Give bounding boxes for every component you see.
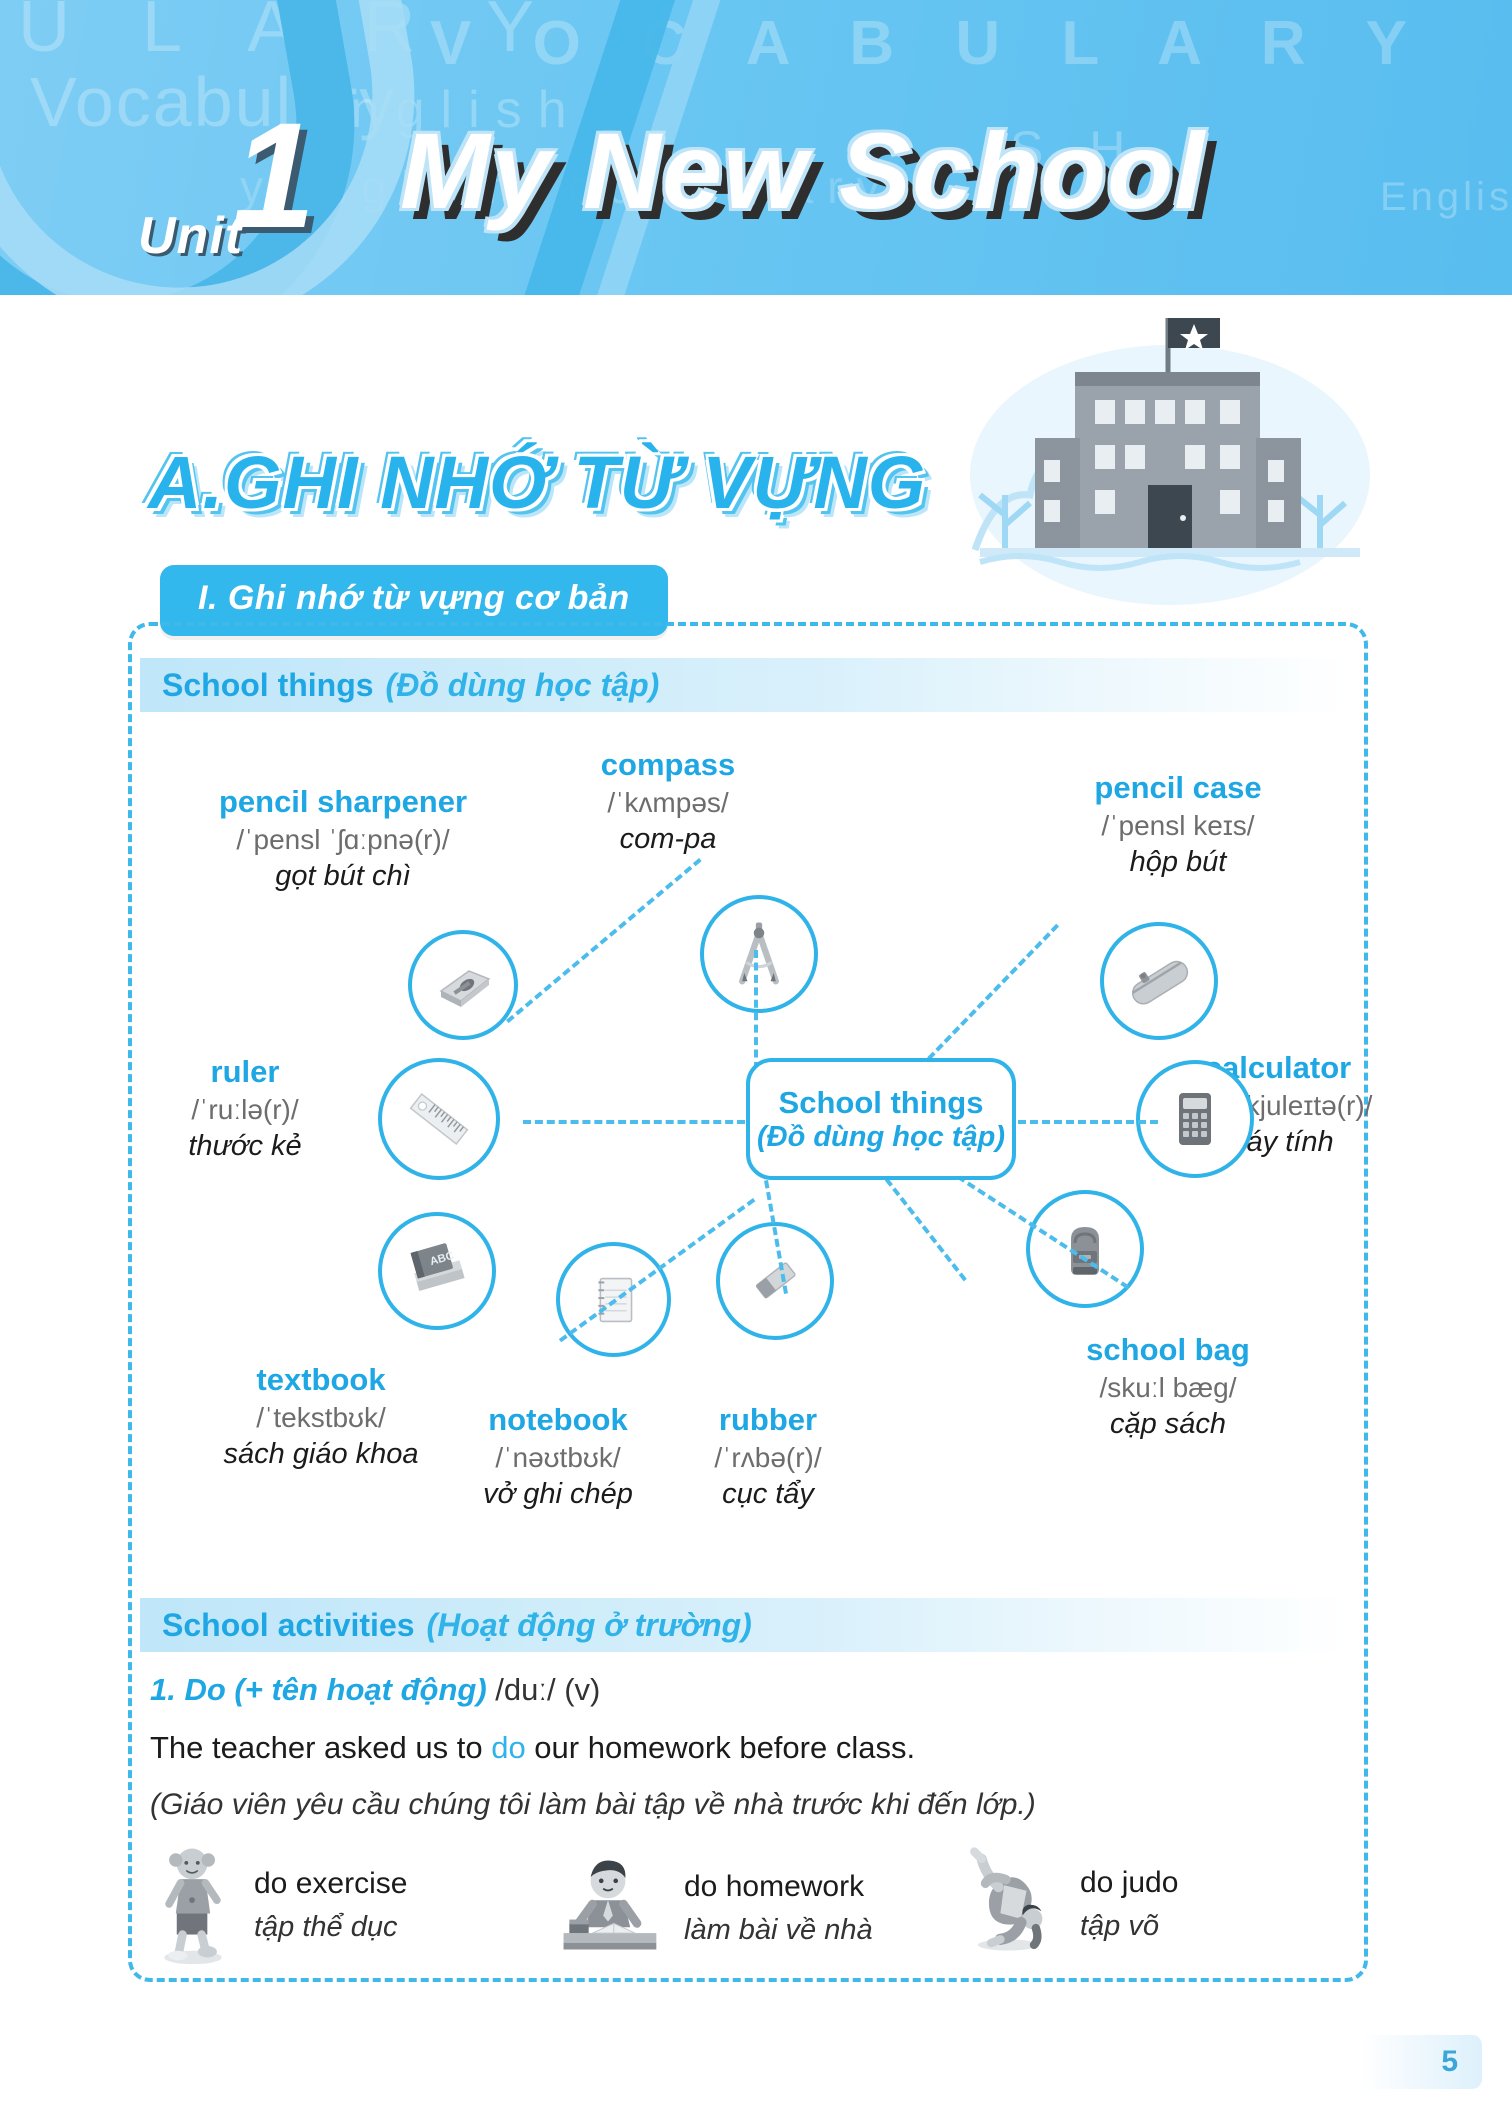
vocab-ipa: /ˈrʌbə(r)/ xyxy=(628,1440,908,1476)
connector-compass xyxy=(754,950,758,1070)
homework-boy-icon xyxy=(550,1848,666,1969)
vocab-ruler: ruler /ˈruːlə(r)/ thước kẻ xyxy=(120,1052,370,1165)
vocab-word: textbook xyxy=(156,1360,486,1400)
activity-vi: làm bài về nhà xyxy=(684,1909,873,1953)
activity-entry-heading: 1. Do (+ tên hoạt động) /duː/ (v) xyxy=(150,1672,600,1708)
bg-word-1: U L A R Y xyxy=(18,0,560,68)
vocab-pencil-case: pencil case /ˈpensl keɪs/ hộp bút xyxy=(1018,768,1338,881)
ruler-icon xyxy=(378,1058,500,1180)
example-before: The teacher asked us to xyxy=(150,1730,491,1765)
section-a-text: GHI NHỚ TỪ VỰNG xyxy=(224,441,926,524)
activity-entry-number: 1. Do (+ tên hoạt động) xyxy=(150,1672,487,1707)
center-node-en: School things xyxy=(779,1085,984,1121)
section-a-prefix: A. xyxy=(148,441,224,524)
vocab-word: ruler xyxy=(120,1052,370,1092)
unit-label: Unit xyxy=(138,206,243,266)
school-bag-icon xyxy=(1026,1190,1144,1308)
vocab-word: pencil sharpener xyxy=(178,782,508,822)
vocab-vi: cặp sách xyxy=(1008,1406,1328,1443)
exercise-girl-icon xyxy=(150,1840,236,1971)
activity-item-exercise: do exercise tập thể dục xyxy=(150,1840,407,1971)
page-number: 5 xyxy=(1360,2035,1482,2089)
activity-label-homework: do homework làm bài về nhà xyxy=(684,1864,873,1953)
band-school-activities: School activities (Hoạt động ở trường) xyxy=(140,1598,1350,1652)
band-school-activities-en: School activities xyxy=(162,1607,415,1644)
activity-example-translation: (Giáo viên yêu cầu chúng tôi làm bài tập… xyxy=(150,1788,1036,1822)
band-school-activities-vi: (Hoạt động ở trường) xyxy=(427,1607,752,1644)
section-a-title: A.GHI NHỚ TỪ VỰNG xyxy=(148,440,926,525)
band-school-things-en: School things xyxy=(162,667,374,704)
bg-word-2: V O C A B U L A R Y xyxy=(430,8,1429,79)
activity-en: do homework xyxy=(684,1864,873,1909)
header-banner: U L A R Y V O C A B U L A R Y Vocabulary… xyxy=(0,0,1512,295)
connector-calculator xyxy=(1018,1120,1158,1124)
compass-icon xyxy=(700,895,818,1013)
vocab-ipa: /skuːl bæg/ xyxy=(1008,1370,1328,1406)
mindmap: School things (Đồ dùng học tập) pencil s… xyxy=(128,700,1368,1580)
activity-label-judo: do judo tập võ xyxy=(1080,1860,1178,1949)
vocab-word: school bag xyxy=(1008,1330,1328,1370)
page-title: My New School xyxy=(400,108,1205,233)
unit-number: 1 xyxy=(232,100,315,250)
connector-ruler xyxy=(523,1120,745,1124)
band-school-things-vi: (Đồ dùng học tập) xyxy=(386,667,660,704)
center-node-vi: (Đồ dùng học tập) xyxy=(757,1121,1005,1154)
vocab-ipa: /ˈkʌmpəs/ xyxy=(518,785,818,821)
activity-en: do exercise xyxy=(254,1861,407,1906)
vocab-ipa: /ˈruːlə(r)/ xyxy=(120,1092,370,1128)
activity-vi: tập thể dục xyxy=(254,1906,407,1950)
pencil-case-icon xyxy=(1100,922,1218,1040)
vocab-vi: com-pa xyxy=(518,821,818,858)
vocab-word: compass xyxy=(518,745,818,785)
vocab-word: rubber xyxy=(628,1400,908,1440)
activity-en: do judo xyxy=(1080,1860,1178,1905)
vocab-ipa: /ˈpensl ˈʃɑːpnə(r)/ xyxy=(178,822,508,858)
mindmap-center-node: School things (Đồ dùng học tập) xyxy=(746,1058,1016,1180)
example-after: our homework before class. xyxy=(526,1730,915,1765)
bg-word-7: English xyxy=(1380,175,1512,220)
vocab-vi: thước kẻ xyxy=(120,1128,370,1165)
vocab-vi: gọt bút chì xyxy=(178,858,508,895)
vocab-ipa: /ˈpensl keɪs/ xyxy=(1018,808,1338,844)
worksheet-page: U L A R Y V O C A B U L A R Y Vocabulary… xyxy=(0,0,1512,2119)
activity-vi: tập võ xyxy=(1080,1905,1178,1949)
school-building-illustration xyxy=(920,300,1390,630)
activity-item-homework: do homework làm bài về nhà xyxy=(550,1848,873,1969)
activity-items-row: do exercise tập thể dục xyxy=(150,1840,1330,1970)
vocab-pencil-sharpener: pencil sharpener /ˈpensl ˈʃɑːpnə(r)/ gọt… xyxy=(178,782,508,895)
activity-example-sentence: The teacher asked us to do our homework … xyxy=(150,1730,915,1766)
vocab-vi: hộp bút xyxy=(1018,844,1338,881)
bg-word-3: Vocabulary xyxy=(30,62,396,142)
example-highlight: do xyxy=(491,1730,525,1765)
pencil-sharpener-icon xyxy=(408,930,518,1040)
vocab-word: pencil case xyxy=(1018,768,1338,808)
judo-icon xyxy=(950,1846,1062,1963)
vocab-rubber: rubber /ˈrʌbə(r)/ cục tẩy xyxy=(628,1400,908,1513)
activity-entry-ipa: /duː/ (v) xyxy=(495,1672,600,1707)
vocab-vi: cục tẩy xyxy=(628,1476,908,1513)
connector-rubber xyxy=(885,1178,967,1281)
vocab-school-bag: school bag /skuːl bæg/ cặp sách xyxy=(1008,1330,1328,1443)
vocab-compass: compass /ˈkʌmpəs/ com-pa xyxy=(518,745,818,858)
activity-item-judo: do judo tập võ xyxy=(950,1846,1178,1963)
calculator-icon xyxy=(1136,1060,1254,1178)
activity-label-exercise: do exercise tập thể dục xyxy=(254,1861,407,1950)
textbook-icon: ABC xyxy=(378,1212,496,1330)
connector-sharpener xyxy=(506,858,702,1023)
